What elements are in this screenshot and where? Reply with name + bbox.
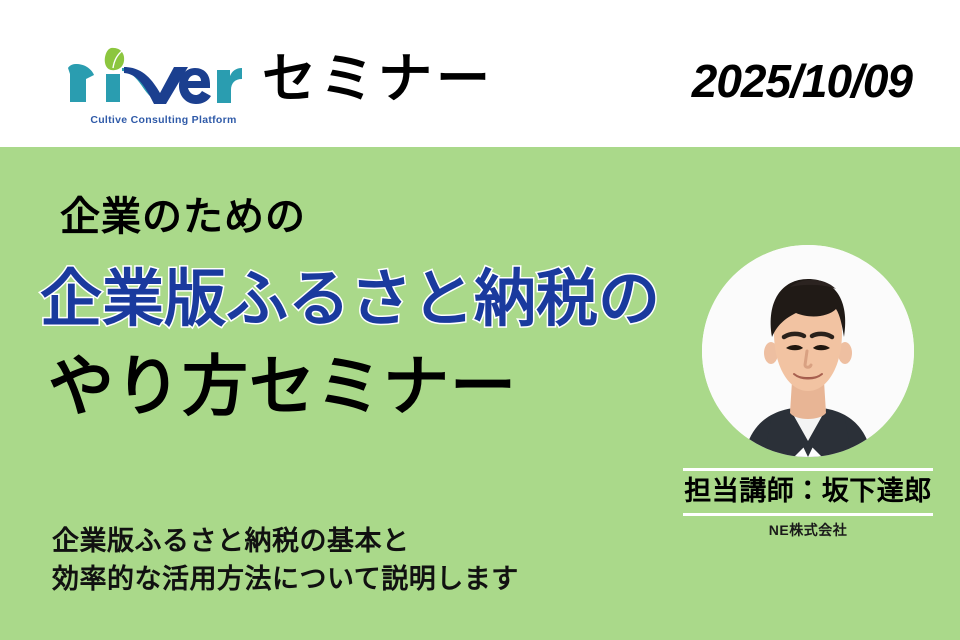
banner-header: Cultive Consulting Platform セミナー 2025/10… [0,0,960,147]
seminar-label: セミナー [262,52,494,106]
river-wordmark-icon [62,46,244,108]
headline-kicker: 企業のための [60,197,306,237]
banner-body: 企業のための 企業版ふるさと納税の やり方セミナー 企業版ふるさと納税の基本と … [0,147,960,640]
seminar-date: 2025/10/09 [692,58,912,104]
river-logo: Cultive Consulting Platform [62,46,252,134]
speaker-avatar [702,245,914,457]
headline-secondary: やり方セミナー [48,352,517,421]
speaker-rule-bottom [683,513,933,516]
speaker-name: 担当講師：坂下達郎 [683,473,933,509]
seminar-banner: Cultive Consulting Platform セミナー 2025/10… [0,0,960,640]
seminar-description: 企業版ふるさと納税の基本と 効率的な活用方法について説明します [52,522,519,599]
headline-primary: 企業版ふるさと納税の [40,267,660,332]
speaker-rule-top [683,468,933,471]
speaker-company: NE株式会社 [683,520,933,540]
logo-tagline: Cultive Consulting Platform [81,114,246,126]
